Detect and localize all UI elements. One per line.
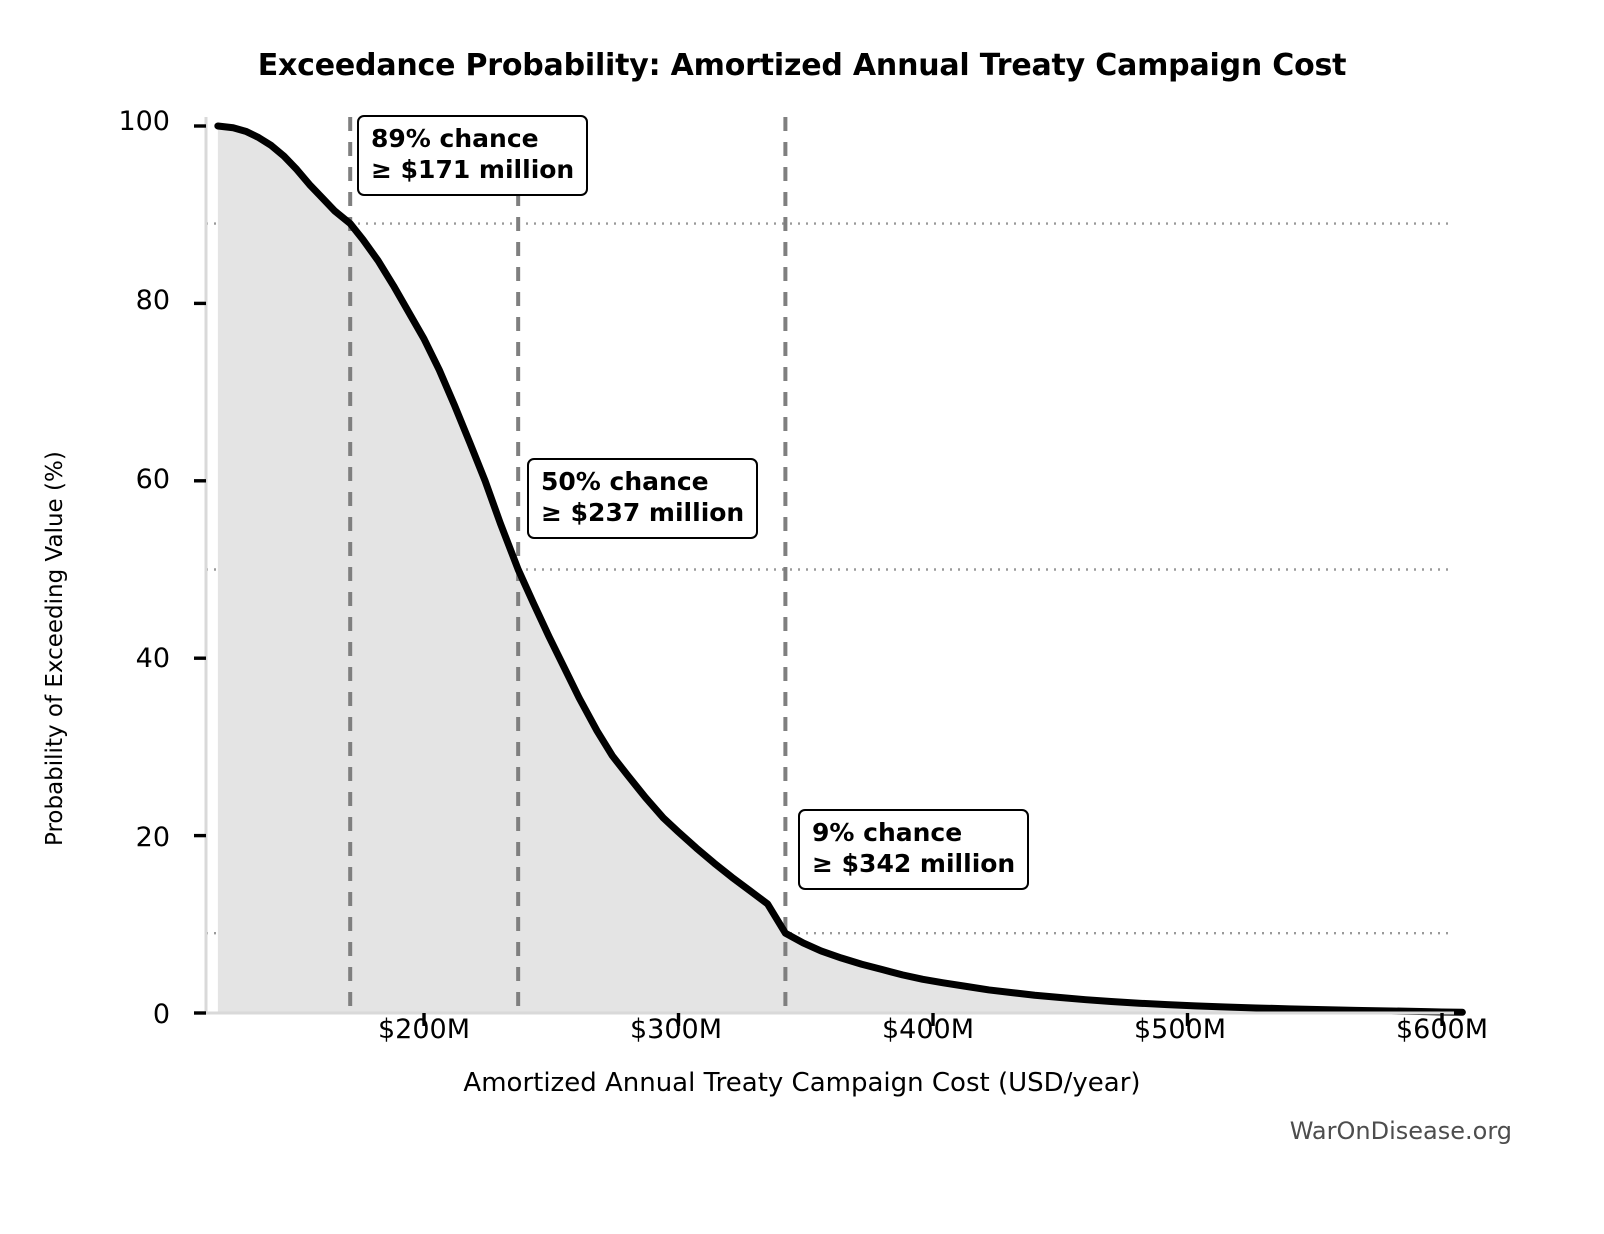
ytick-label-0: 0 xyxy=(60,999,170,1030)
ytick-label-80: 80 xyxy=(60,285,170,316)
y-axis-label: Probability of Exceeding Value (%) xyxy=(42,451,68,846)
annotation-89-line2: ≥ $171 million xyxy=(371,155,574,186)
x-axis-label: Amortized Annual Treaty Campaign Cost (U… xyxy=(0,1068,1604,1098)
xtick-label-500m: $500M xyxy=(1080,1014,1280,1045)
chart-page: Exceedance Probability: Amortized Annual… xyxy=(0,0,1604,1234)
annotation-50-line2: ≥ $237 million xyxy=(541,498,744,529)
annotation-9-line1: 9% chance xyxy=(812,818,962,847)
annotation-9-line2: ≥ $342 million xyxy=(812,849,1015,880)
xtick-label-400m: $400M xyxy=(828,1014,1028,1045)
watermark: WarOnDisease.org xyxy=(1290,1117,1512,1145)
annotation-89-line1: 89% chance xyxy=(371,124,539,153)
ytick-label-60: 60 xyxy=(60,464,170,495)
exceedance-probability-plot xyxy=(0,0,1604,1234)
xtick-label-600m: $600M xyxy=(1342,1014,1542,1045)
ytick-label-40: 40 xyxy=(60,643,170,674)
annotation-9-percent: 9% chance ≥ $342 million xyxy=(798,809,1029,890)
annotation-50-percent: 50% chance ≥ $237 million xyxy=(527,458,758,539)
ytick-label-100: 100 xyxy=(60,106,170,137)
annotation-89-percent: 89% chance ≥ $171 million xyxy=(357,115,588,196)
annotation-50-line1: 50% chance xyxy=(541,467,709,496)
xtick-label-200m: $200M xyxy=(324,1014,524,1045)
xtick-label-300m: $300M xyxy=(576,1014,776,1045)
ytick-label-20: 20 xyxy=(60,822,170,853)
